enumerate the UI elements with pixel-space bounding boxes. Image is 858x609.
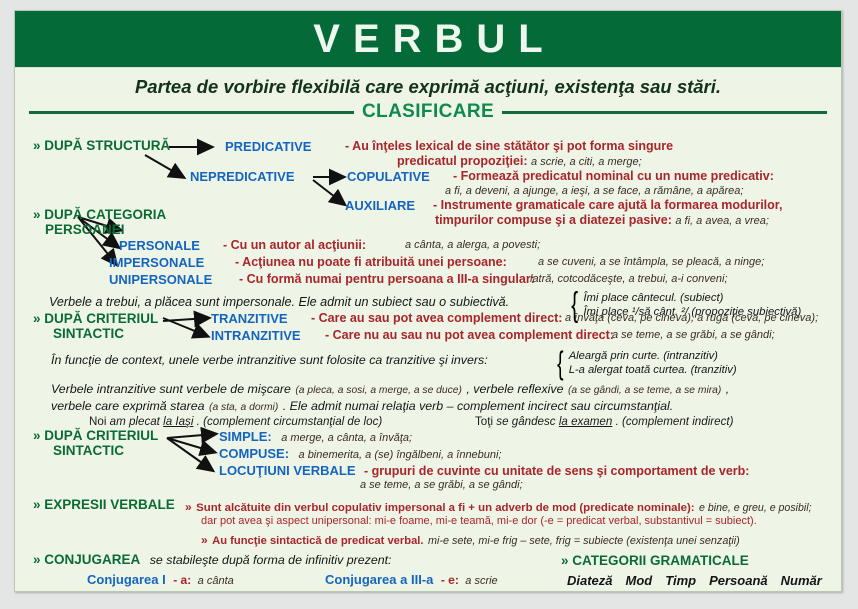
desc-personale: - Cu un autor al acţiunii:	[223, 238, 366, 252]
para1-c: ,	[726, 382, 729, 396]
categorie-diateza: Diateză	[567, 573, 613, 588]
desc-auxiliare-line2-text: timpurilor compuse şi a diatezei pasive:	[435, 213, 672, 227]
conjugarea-3-example: a scrie	[465, 575, 497, 587]
para2-ex: (a sta, a dormi)	[209, 402, 278, 413]
brace-context-lines: Aleargă prin curte. (intranzitiv) L-a al…	[569, 349, 737, 377]
desc-auxiliare-line1: - Instrumente gramaticale care ajută la …	[433, 198, 782, 212]
label-unipersonale: UNIPERSONALE	[109, 272, 212, 287]
example-right-2: se gândesc	[496, 415, 555, 428]
desc-tranzitive: - Care au sau pot avea complement direct…	[311, 311, 562, 325]
desc-predicative-line1: - Au înţeles lexical de sine stătător şi…	[345, 139, 673, 153]
section-heading-structura2-line2: SINTACTIC	[53, 443, 124, 458]
conjugarea-note: se stabileşte după forma de infinitiv pr…	[150, 553, 392, 567]
examples-unipersonale: latră, cotcodăceşte, a trebui, a-i conve…	[530, 273, 728, 285]
poster-title-bar: VERBUL	[15, 11, 841, 68]
para1-b: , verbele reflexive	[466, 382, 563, 396]
conjugarea-item-1: Conjugarea I - a: a cânta	[87, 571, 234, 589]
desc-intranzitive: - Care nu au sau nu pot avea complement …	[325, 328, 614, 342]
conjugarea-2-name: Conjugarea a II-a	[87, 589, 192, 592]
categorii-list: Diateză Mod Timp Persoană Număr	[567, 573, 822, 588]
desc-unipersonale: - Cu formă numai pentru persoana a III-a…	[239, 272, 535, 286]
conjugarea-1-name: Conjugarea I	[87, 572, 166, 587]
desc-auxiliare-line2: timpurilor compuse şi a diatezei pasive:…	[435, 213, 769, 227]
categorie-numar: Număr	[781, 573, 822, 588]
examples-tranzitive: a învăţa (ceva, pe cineva), a ruga (ceva…	[565, 312, 818, 324]
rule-left	[29, 111, 354, 114]
examples-locutiuni-verbale: a se teme, a se grăbi, a se gândi;	[360, 479, 523, 491]
conjugarea-item-2: Conjugarea a II-a - ea: a vedea	[87, 588, 270, 592]
examples-simple: a merge, a cânta, a învăţa;	[281, 432, 412, 444]
example-left-4: . (complement circumstanţial de loc)	[197, 415, 383, 428]
label-simple: SIMPLE:	[219, 429, 272, 444]
label-personale: PERSONALE	[119, 238, 200, 253]
example-left-2: am plecat	[110, 415, 160, 428]
page-title: VERBUL	[300, 19, 555, 59]
example-left-1: Noi	[89, 415, 106, 428]
classification-label: CLASIFICARE	[362, 101, 494, 123]
para1-ex1: (a pleca, a sosi, a merge, a se duce)	[295, 385, 462, 396]
section-heading-persoana-line1: » DUPĂ CATEGORIA	[33, 207, 166, 222]
conjugarea-3-name: Conjugarea a III-a	[325, 572, 433, 587]
para2-b: . Ele admit numai relaţia verb – complem…	[283, 399, 673, 413]
conjugarea-label: » CONJUGAREA	[33, 552, 140, 567]
brace-context: { Aleargă prin curte. (intranzitiv) L-a …	[555, 347, 737, 379]
chevron-marker-2: »	[201, 533, 208, 547]
label-intranzitive: INTRANZITIVE	[211, 328, 301, 343]
expresii-line3: » Au funcţie sintactică de predicat verb…	[201, 531, 740, 549]
conjugarea-4-name: Conjugarea a IV-a	[325, 589, 434, 592]
expresii-line3-examples: mi-e sete, mi-e frig – sete, frig = subi…	[428, 535, 740, 547]
example-right-3: la examen	[559, 415, 613, 428]
item-simple: SIMPLE: a merge, a cânta, a învăţa;	[219, 428, 412, 446]
brace-context-line-2: L-a alergat toată curtea. (tranzitiv)	[569, 363, 737, 377]
para-intranzitive-line1: Verbele intranzitive sunt verbele de miş…	[51, 380, 729, 398]
label-auxiliare: AUXILIARE	[345, 198, 415, 213]
label-impersonale: IMPERSONALE	[109, 255, 204, 270]
poster: VERBUL Partea de vorbire flexibilă care …	[14, 10, 842, 592]
para1-ex2: (a se gândi, a se teme, a se mira)	[568, 385, 721, 396]
conjugarea-3-ending: - e:	[441, 573, 459, 587]
examples-impersonale: a se cuveni, a se întâmpla, se pleacă, a…	[538, 256, 764, 268]
categorie-mod: Mod	[626, 573, 653, 588]
conjugarea-1-ending: - a:	[173, 573, 191, 587]
section-heading-persoana-line2: PERSOANEI	[45, 222, 125, 237]
expresii-line1: » Sunt alcătuite din verbul copulativ im…	[185, 498, 812, 516]
section-heading-conjugarea: » CONJUGAREA se stabileşte după forma de…	[33, 551, 392, 569]
conjugarea-item-3: Conjugarea a III-a - e: a scrie	[325, 571, 498, 589]
examples-copulative: a fi, a deveni, a ajunge, a ieşi, a se f…	[445, 185, 743, 197]
example-left-3: la Iaşi	[163, 415, 193, 428]
label-tranzitive: TRANZITIVE	[211, 311, 288, 326]
categorie-persoana: Persoană	[709, 573, 768, 588]
section-heading-categorii: » CATEGORII GRAMATICALE	[561, 553, 749, 568]
desc-copulative: - Formează predicatul nominal cu un nume…	[453, 169, 774, 183]
example-right-1: Toţi	[475, 415, 493, 428]
label-compuse: COMPUSE:	[219, 446, 289, 461]
example-complement-loc: Noi am plecat la Iaşi . (complement circ…	[89, 415, 382, 428]
example-right-4: . (complement indirect)	[616, 415, 734, 428]
label-predicative: PREDICATIVE	[225, 139, 311, 154]
examples-compuse: a binemerita, a (se) îngălbeni, a înnebu…	[299, 449, 502, 461]
examples-intranzitive: a se teme, a se grăbi, a se gândi;	[612, 329, 775, 341]
note-impersonale: Verbele a trebui, a plăcea sunt imperson…	[49, 295, 509, 309]
desc-predicative-line2: predicatul propoziţiei: a scrie, a citi,…	[345, 154, 642, 168]
desc-impersonale: - Acţiunea nu poate fi atribuită unei pe…	[235, 255, 507, 269]
note-context: În funcţie de context, unele verbe intra…	[51, 353, 488, 367]
expresii-line3-red: Au funcţie sintactică de predicat verbal…	[212, 535, 423, 547]
example-complement-indirect: Toţi se gândesc la examen . (complement …	[475, 415, 733, 428]
item-locutiuni: LOCUŢIUNI VERBALE - grupuri de cuvinte c…	[219, 462, 749, 480]
poster-subtitle: Partea de vorbire flexibilă care exprimă…	[15, 68, 841, 100]
examples-auxiliare: a fi, a avea, a vrea;	[675, 215, 769, 227]
conjugarea-item-4: Conjugarea a IV-a - i: a iubi	[325, 588, 489, 592]
desc-locutiuni-verbale: - grupuri de cuvinte cu unitate de sens …	[364, 464, 750, 478]
brace-line-1: Îmi place cântecul. (subiect)	[583, 291, 801, 305]
categorie-timp: Timp	[665, 573, 696, 588]
section-heading-tranzitiv-line2: SINTACTIC	[53, 326, 124, 341]
label-nepredicative: NEPREDICATIVE	[190, 169, 295, 184]
examples-predicative: a scrie, a citi, a merge;	[531, 156, 642, 168]
para1-a: Verbele intranzitive sunt verbele de miş…	[51, 382, 291, 396]
expresii-line1-red: Sunt alcătuite din verbul copulativ impe…	[196, 502, 694, 514]
conjugarea-2-ending: - ea:	[199, 590, 224, 592]
item-compuse: COMPUSE: a binemerita, a (se) îngălbeni,…	[219, 445, 502, 463]
label-locutiuni-verbale: LOCUŢIUNI VERBALE	[219, 463, 356, 478]
chevron-marker-1: »	[185, 500, 192, 514]
conjugarea-1-example: a cânta	[198, 575, 234, 587]
section-heading-expresii: » EXPRESII VERBALE	[33, 497, 175, 512]
expresii-line1-examples: e bine, e greu, e posibil;	[699, 502, 812, 514]
brace-icon-context: {	[557, 347, 563, 379]
section-heading-tranzitiv-line1: » DUPĂ CRITERIUL	[33, 311, 158, 326]
desc-predicative-line2-text: predicatul propoziţiei:	[397, 154, 528, 168]
classification-header: CLASIFICARE	[29, 101, 827, 123]
para2-a: verbele care exprimă starea	[51, 399, 205, 413]
section-heading-structura2-line1: » DUPĂ CRITERIUL	[33, 428, 158, 443]
expresii-line2: dar pot avea şi aspect unipersonal: mi-e…	[201, 515, 757, 527]
examples-personale: a cânta, a alerga, a povesti;	[405, 239, 540, 251]
section-heading-structura: » DUPĂ STRUCTURĂ	[33, 138, 170, 153]
label-copulative: COPULATIVE	[347, 169, 430, 184]
para-intranzitive-line2: verbele care exprimă starea (a sta, a do…	[51, 397, 673, 415]
rule-right	[502, 111, 827, 114]
conjugarea-4-ending: - i:	[442, 590, 457, 592]
poster-body: » DUPĂ STRUCTURĂ PREDICATIVE - Au înţele…	[15, 125, 841, 592]
brace-context-line-1: Aleargă prin curte. (intranzitiv)	[569, 349, 737, 363]
